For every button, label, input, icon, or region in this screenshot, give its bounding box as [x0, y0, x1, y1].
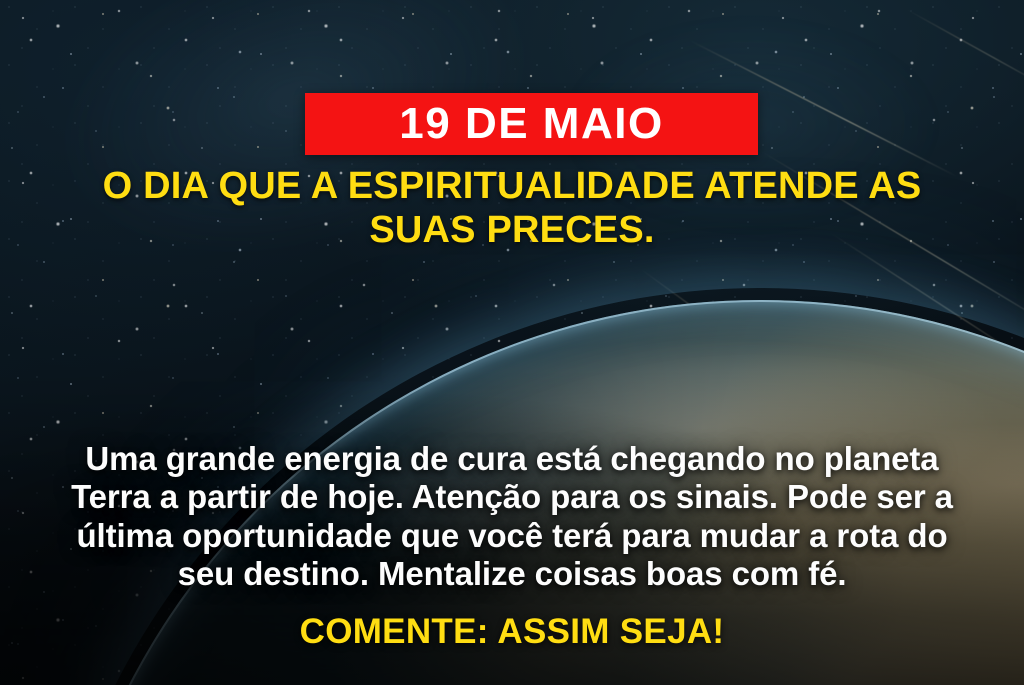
poster-content: 19 DE MAIO O DIA QUE A ESPIRITUALIDADE A… — [0, 0, 1024, 685]
date-banner: 19 DE MAIO — [305, 93, 758, 155]
social-post-image: 19 DE MAIO O DIA QUE A ESPIRITUALIDADE A… — [0, 0, 1024, 685]
body-paragraph: Uma grande energia de cura está chegando… — [52, 440, 972, 593]
headline-text: O DIA QUE A ESPIRITUALIDADE ATENDE AS SU… — [0, 164, 1024, 252]
call-to-action-text: COMENTE: ASSIM SEJA! — [0, 612, 1024, 652]
date-banner-label: 19 DE MAIO — [399, 102, 663, 146]
